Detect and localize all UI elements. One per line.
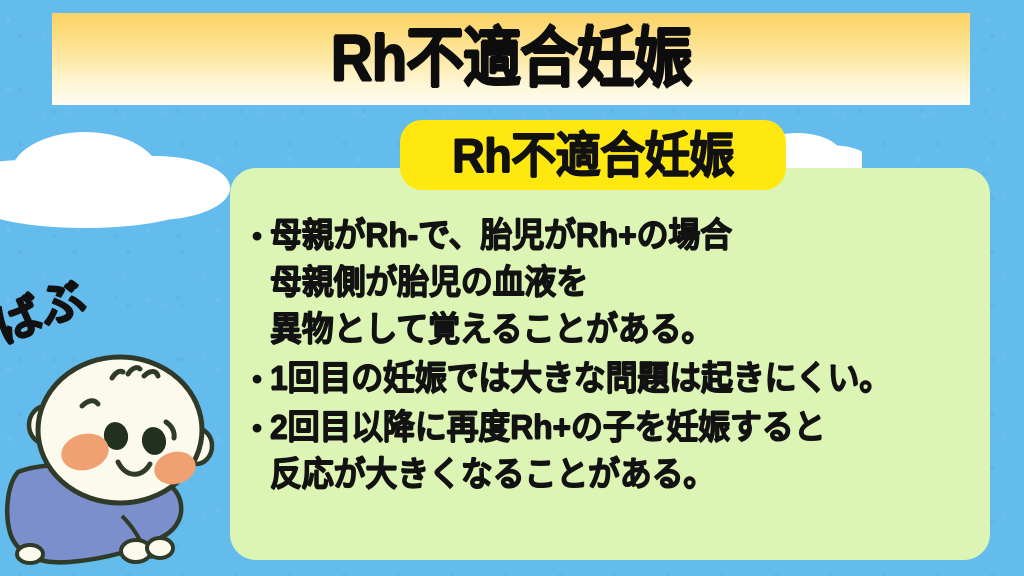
bullet-text-block: 母親がRh-で、胎児がRh+の場合 母親側が胎児の血液を 異物として覚えることが…	[270, 212, 970, 353]
bullet-dot-icon: •	[244, 355, 270, 402]
bullet-dot-icon: •	[244, 212, 270, 259]
bullet-dot-icon: •	[244, 404, 270, 451]
bullet-line: 反応が大きくなることがある。	[270, 450, 970, 500]
list-item: • 母親がRh-で、胎児がRh+の場合 母親側が胎児の血液を 異物として覚えるこ…	[244, 212, 970, 353]
subtitle-label: Rh不適合妊娠	[452, 131, 734, 180]
bullet-line: 2回目以降に再度Rh+の子を妊娠すると	[270, 403, 970, 453]
page-title: Rh不適合妊娠	[331, 27, 691, 92]
bullet-line: 異物として覚えることがある。	[270, 305, 970, 355]
content-card: • 母親がRh-で、胎児がRh+の場合 母親側が胎児の血液を 異物として覚えるこ…	[230, 168, 990, 560]
bullet-line: 1回目の妊娠では大きな問題は起きにくい。	[270, 354, 970, 404]
bullet-list: • 母親がRh-で、胎児がRh+の場合 母親側が胎児の血液を 異物として覚えるこ…	[244, 212, 970, 498]
title-banner: Rh不適合妊娠	[52, 13, 970, 105]
cloud-left-icon	[0, 122, 260, 230]
bullet-line: 母親がRh-で、胎児がRh+の場合	[270, 211, 970, 261]
subtitle-pill: Rh不適合妊娠	[400, 120, 786, 190]
slide-root: Rh不適合妊娠 Rh不適合妊娠 • 母親がRh-で、胎児がRh+の場合 母親側が…	[0, 0, 1024, 576]
list-item: • 1回目の妊娠では大きな問題は起きにくい。	[244, 355, 970, 402]
bullet-line: 母親側が胎児の血液を	[270, 258, 970, 308]
bullet-text-block: 2回目以降に再度Rh+の子を妊娠すると 反応が大きくなることがある。	[270, 404, 970, 498]
list-item: • 2回目以降に再度Rh+の子を妊娠すると 反応が大きくなることがある。	[244, 404, 970, 498]
bullet-text-block: 1回目の妊娠では大きな問題は起きにくい。	[270, 355, 970, 402]
